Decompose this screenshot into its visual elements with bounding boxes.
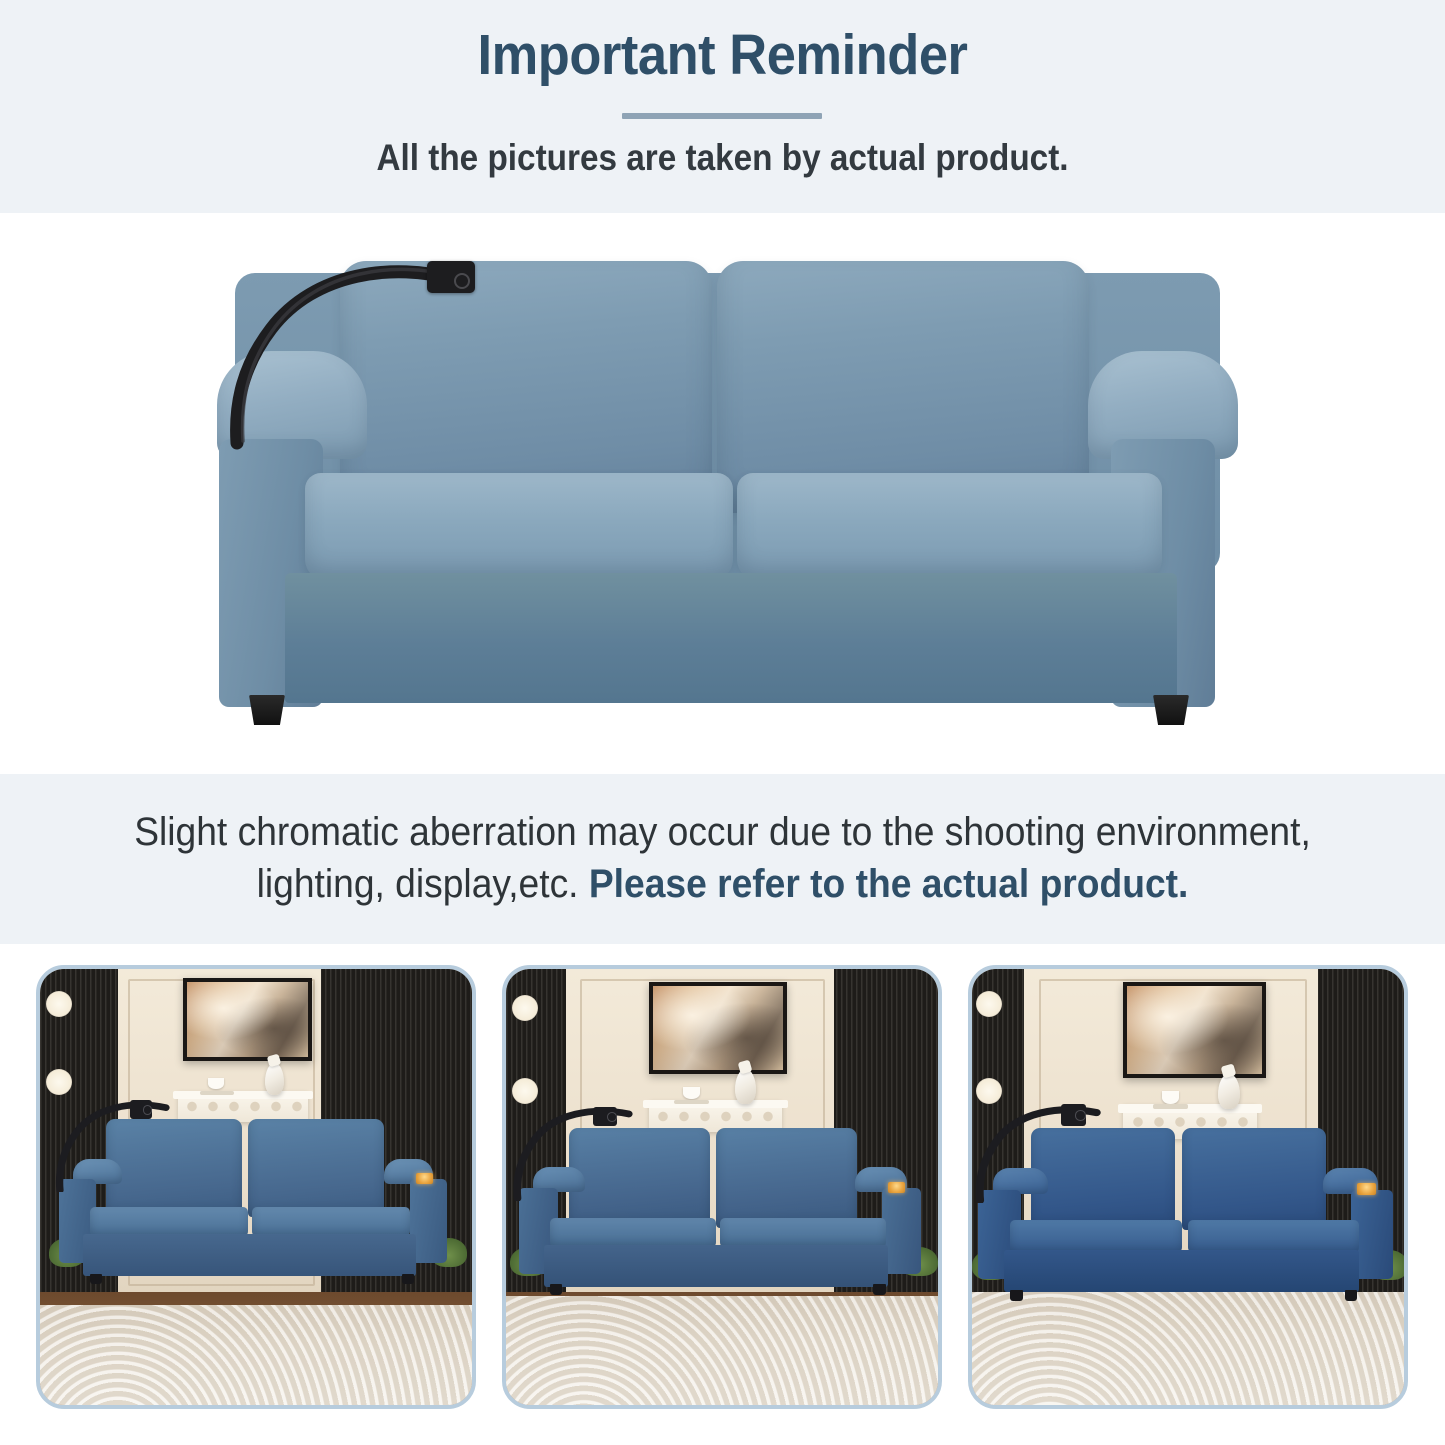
- canyon-artwork: [183, 978, 313, 1061]
- decor-tray: [1153, 1104, 1188, 1108]
- disclaimer-band: Slight chromatic aberration may occur du…: [0, 774, 1445, 944]
- thumbnail-row: [0, 944, 1445, 1445]
- scene-sofa-leg-left: [550, 1284, 562, 1294]
- scene-sofa-base: [1004, 1250, 1360, 1293]
- hero-product-photo: [0, 213, 1445, 774]
- sofa-seat-cushion-left: [305, 473, 733, 581]
- scene-sofa-base: [544, 1245, 888, 1287]
- sofa-base: [285, 573, 1177, 703]
- living-room-scene-2: [506, 969, 938, 1405]
- disclaimer-line-2-plain: lighting, display,etc.: [257, 862, 589, 906]
- header-subtitle: All the pictures are taken by actual pro…: [72, 137, 1373, 179]
- scene-sofa-base: [83, 1234, 416, 1276]
- sofa-in-scene-2: [515, 1113, 930, 1322]
- scene-sofa-leg-right: [402, 1274, 414, 1284]
- header-band: Important Reminder All the pictures are …: [0, 0, 1445, 213]
- decor-tray: [674, 1100, 709, 1104]
- disclaimer-line-1: Slight chromatic aberration may occur du…: [51, 810, 1395, 855]
- page-title: Important Reminder: [58, 22, 1387, 88]
- title-divider: [622, 113, 822, 119]
- infographic-page: Important Reminder All the pictures are …: [0, 0, 1445, 1445]
- white-bust-sculpture: [1218, 1074, 1240, 1110]
- scene-back-cushion-right: [716, 1128, 857, 1228]
- scene-phone-clamp-icon: [130, 1100, 152, 1119]
- gooseneck-phone-holder: [195, 243, 515, 453]
- thumbnail-card-2[interactable]: [502, 965, 942, 1409]
- mantel-top-shelf: [1118, 1104, 1263, 1113]
- disclaimer-line-2: lighting, display,etc. Please refer to t…: [51, 862, 1395, 907]
- teacup: [683, 1087, 699, 1099]
- living-room-scene-1: [40, 969, 472, 1405]
- scene-back-cushion-right: [248, 1119, 384, 1217]
- canyon-artwork: [1123, 982, 1266, 1078]
- scene-sofa-leg-left: [1010, 1290, 1023, 1301]
- sofa-in-scene-1: [53, 1104, 459, 1313]
- scene-gooseneck-arm-icon: [972, 1096, 1129, 1203]
- scene-seat-cushion-left: [1010, 1220, 1181, 1254]
- sofa-illustration: [195, 243, 1260, 743]
- thumbnail-card-3[interactable]: [968, 965, 1408, 1409]
- canyon-artwork: [649, 982, 787, 1074]
- area-rug: [40, 1305, 472, 1405]
- scene-gooseneck-arm-icon: [49, 1092, 195, 1192]
- scene-sofa-leg-right: [1345, 1290, 1358, 1301]
- sofa-leg-left: [249, 695, 285, 725]
- white-bust-sculpture: [735, 1069, 756, 1104]
- disclaimer-emphasis: Please refer to the actual product.: [589, 862, 1189, 906]
- scene-gooseneck-arm-icon: [506, 1098, 659, 1201]
- candle-in-cupholder: [416, 1173, 432, 1183]
- mantel-top-shelf: [643, 1100, 788, 1108]
- scene-sofa-leg-right: [873, 1284, 885, 1294]
- decor-tray: [200, 1091, 235, 1095]
- teacup: [1162, 1091, 1179, 1104]
- scene-back-cushion-right: [1182, 1128, 1326, 1231]
- sofa-seat-cushion-right: [737, 473, 1162, 581]
- thumbnail-card-1[interactable]: [36, 965, 476, 1409]
- phone-clamp-icon: [427, 261, 475, 293]
- scene-phone-clamp-icon: [593, 1107, 617, 1127]
- scene-sofa-leg-left: [90, 1274, 102, 1284]
- sofa-leg-right: [1153, 695, 1189, 725]
- wall-light-1: [976, 991, 1002, 1017]
- scene-seat-cushion-right: [1188, 1220, 1359, 1254]
- candle-in-cupholder: [1357, 1183, 1376, 1195]
- candle-in-cupholder: [888, 1182, 905, 1193]
- scene-phone-clamp-icon: [1061, 1104, 1086, 1125]
- sofa-in-scene-3: [976, 1113, 1399, 1327]
- living-room-scene-3: [972, 969, 1404, 1405]
